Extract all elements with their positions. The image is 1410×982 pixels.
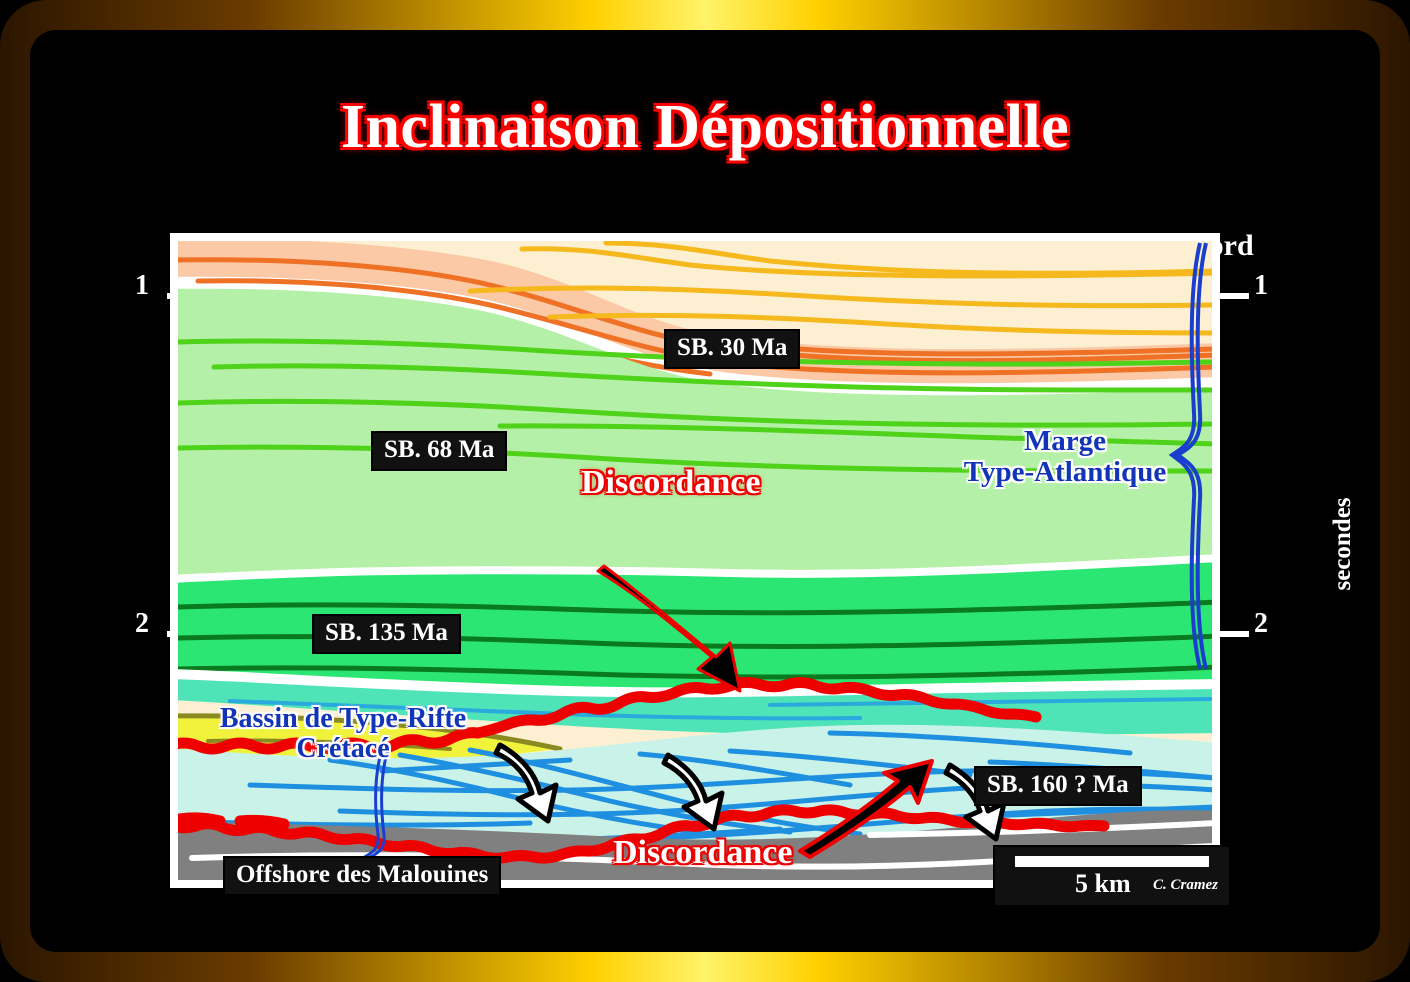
annotation-bassin-line2: Crétacé [205,734,481,764]
scale-bar-rule [1015,856,1209,867]
y-tickmark-right-1 [1215,293,1249,299]
y-tick-left-2: 2 [135,608,149,640]
label-sb-135ma: SB. 135 Ma [312,614,461,654]
annotation-marge-atlantique: Marge Type-Atlantique [943,426,1187,489]
scale-bar: 5 km C. Cramez [993,845,1231,907]
annotation-marge-line2: Type-Atlantique [943,457,1187,488]
label-sb-160ma: SB. 160 ? Ma [974,766,1142,806]
scale-bar-distance: 5 km [1075,869,1131,899]
annotation-marge-line1: Marge [943,426,1187,457]
annotation-bassin-line1: Bassin de Type-Rifte [205,704,481,734]
y-tick-right-1: 1 [1254,270,1268,302]
y-axis-label-right: secondes [1329,474,1357,614]
author-credit: C. Cramez [1153,877,1218,894]
poster-inner: Inclinaison Dépositionnelle Sud Nord 1 2… [30,30,1380,952]
annotation-discordance-upper: Discordance [581,464,760,502]
y-tickmark-right-2 [1215,631,1249,637]
label-sb-68ma: SB. 68 Ma [371,431,507,471]
label-sb-30ma: SB. 30 Ma [664,329,800,369]
y-tick-right-2: 2 [1254,608,1268,640]
poster-frame: Inclinaison Dépositionnelle Sud Nord 1 2… [0,0,1410,982]
label-offshore-malouines: Offshore des Malouines [223,856,501,896]
y-tick-left-1: 1 [135,270,149,302]
annotation-bassin-rifte: Bassin de Type-Rifte Crétacé [205,704,481,764]
page-title: Inclinaison Dépositionnelle [30,92,1380,163]
annotation-discordance-lower: Discordance [613,834,792,872]
